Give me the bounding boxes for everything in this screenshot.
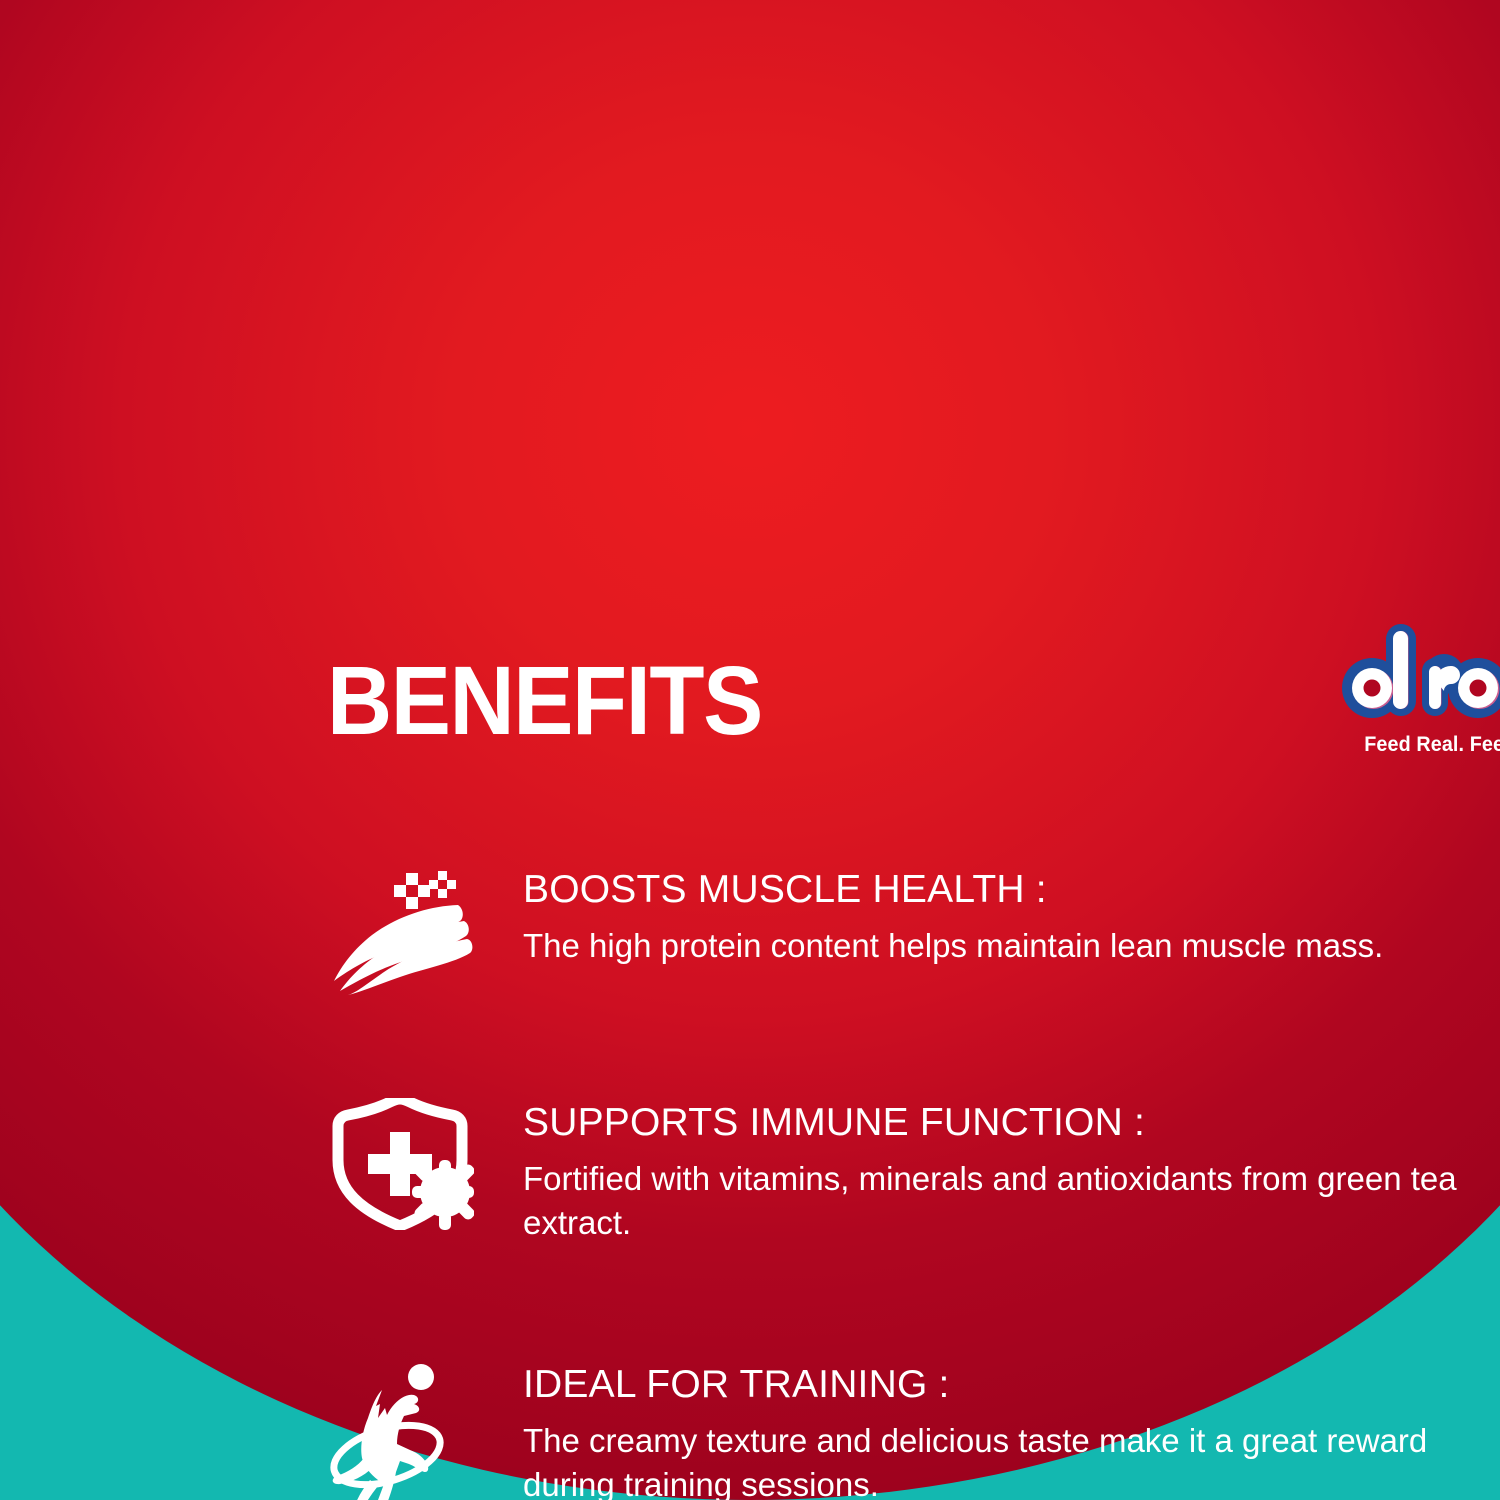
benefit-item: BOOSTS MUSCLE HEALTH : The high protein … [318, 865, 1500, 995]
page-title: BENEFITS [327, 652, 762, 749]
benefit-description: The high protein content helps maintain … [523, 924, 1483, 968]
benefit-icon-slot [318, 1098, 523, 1230]
benefit-icon-slot [318, 865, 523, 995]
benefits-poster: BENEFITS [0, 0, 1500, 1500]
benefit-description: Fortified with vitamins, minerals and an… [523, 1157, 1483, 1245]
benefit-item: SUPPORTS IMMUNE FUNCTION : Fortified wit… [318, 1098, 1500, 1245]
benefit-icon-slot [318, 1360, 523, 1500]
content-layer: BENEFITS [170, 560, 1500, 1500]
benefit-text: IDEAL FOR TRAINING : The creamy texture … [523, 1360, 1500, 1500]
benefit-description: The creamy texture and delicious taste m… [523, 1419, 1483, 1500]
dog-jumping-hoop-icon [324, 1360, 474, 1500]
benefit-title: SUPPORTS IMMUNE FUNCTION : [523, 1102, 1500, 1145]
benefit-item: IDEAL FOR TRAINING : The creamy texture … [318, 1360, 1500, 1500]
benefit-text: SUPPORTS IMMUNE FUNCTION : Fortified wit… [523, 1098, 1500, 1245]
brand-tagline: Feed Real. Feed Clean. [1349, 732, 1500, 757]
muscle-fiber-icon [324, 865, 474, 995]
benefit-title: BOOSTS MUSCLE HEALTH : [523, 869, 1500, 912]
drools-wordmark-icon: ® [1338, 618, 1500, 730]
benefit-text: BOOSTS MUSCLE HEALTH : The high protein … [523, 865, 1500, 968]
brand-logo: ® Feed Real. Feed Clean. [1338, 618, 1500, 757]
benefit-title: IDEAL FOR TRAINING : [523, 1364, 1500, 1407]
shield-virus-icon [324, 1098, 474, 1230]
